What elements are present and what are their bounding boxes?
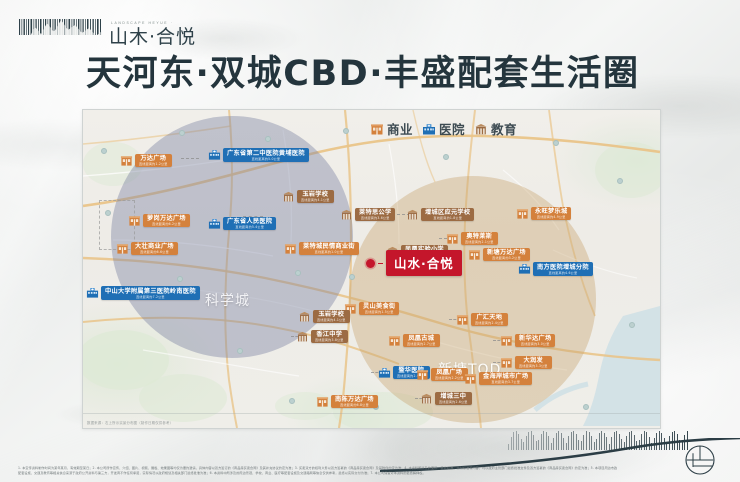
legal-disclaimer: 1. 本宣传资料制作时间为某年某月，有效期至某日；2. 本公司所作宣传、介绍、图… (18, 466, 618, 477)
poi-distance: 直线距离约2.7公里 (407, 343, 436, 346)
poi-pin-commerce[interactable] (500, 354, 513, 367)
map-place-dot (349, 274, 355, 280)
poi-label[interactable]: 南方医院增城分院直线距离约4.6公里 (533, 262, 593, 276)
poi-distance: 直线距离约2.2公里 (435, 377, 464, 380)
legend-item-education: 教育 (474, 119, 517, 138)
page-title: 天河东·双城CBD·丰盛配套生活圈 (86, 57, 640, 92)
legend-label-education: 教育 (491, 119, 517, 138)
project-marker[interactable]: 山水·合悦 (366, 250, 462, 276)
poi-distance: 直线距离约7.2公里 (105, 296, 196, 299)
poi-pin-hospital[interactable] (208, 146, 221, 159)
poi-pin-commerce[interactable] (500, 332, 513, 345)
poi-pin-commerce[interactable] (456, 311, 469, 324)
poi-distance: 直线距离约4.1公里 (317, 319, 346, 322)
poi-label[interactable]: 新华达广场直线距离约3.0公里 (515, 334, 555, 347)
poi-distance: 直线距离约1.8公里 (425, 217, 470, 220)
poi-pin-edu[interactable] (420, 390, 433, 403)
poi-pin-edu[interactable] (340, 206, 353, 219)
poi-label[interactable]: 玉岩学校直线距离约4.1公里 (313, 310, 350, 323)
map-place-dot (443, 154, 449, 160)
poi-distance: 直线距离约2.6公里 (439, 401, 468, 404)
commerce-icon (370, 122, 384, 136)
poi-pin-edu[interactable] (298, 308, 311, 321)
brand-logo: LANDSCAPE HEYUE · 山木·合悦 (18, 17, 196, 47)
poi-distance: 直线距离约2.1公里 (465, 241, 494, 244)
poi-label[interactable]: 广东省人民医院直线距离约5.4公里 (223, 217, 276, 230)
map-source-divider (83, 413, 660, 414)
barcode-mountain-logo-icon (18, 17, 102, 47)
education-icon (474, 122, 488, 136)
map-place-dot (289, 398, 295, 404)
poi-pin-commerce[interactable] (468, 246, 481, 259)
poi-distance: 直线距离约3.8公里 (315, 339, 344, 342)
poi-distance: 直线距离约4.1公里 (301, 199, 330, 202)
poi-pin-hospital[interactable] (518, 260, 531, 273)
poi-pin-commerce[interactable] (284, 240, 297, 253)
brand-english-tagline: LANDSCAPE HEYUE · (111, 22, 196, 25)
poi-label[interactable]: 莱特城民情商业街直线距离约1.0公里 (299, 242, 359, 255)
poi-label[interactable]: 奥特莱斯直线距离约2.1公里 (461, 232, 498, 245)
poi-label[interactable]: 金海岸城市广场直线距离约3.7公里 (479, 372, 532, 385)
map-place-dot (177, 276, 183, 282)
project-marker-connector (378, 263, 383, 264)
map-place-dot (583, 404, 589, 410)
poi-distance: 直线距离约4.6公里 (537, 272, 589, 275)
legend-label-hospital: 医院 (439, 119, 465, 138)
brand-name: 山木·合悦 (109, 28, 196, 47)
project-marker-dot (366, 259, 375, 268)
poi-pin-hospital[interactable] (378, 364, 391, 377)
map-place-dot (237, 348, 243, 354)
zone-label-keyuecheng: 科学城 (205, 290, 250, 310)
map-place-dot (101, 148, 107, 154)
poi-label[interactable]: 大润发直线距离约3.3公里 (515, 356, 552, 369)
poi-distance: 直线距离约4.9公里 (535, 216, 567, 219)
legend-item-commerce: 商业 (370, 119, 413, 138)
legend-label-commerce: 商业 (387, 119, 413, 138)
map-place-dot (629, 322, 635, 328)
poi-pin-edu[interactable] (296, 328, 309, 341)
poi-distance: 直线距离约2.4公里 (475, 322, 504, 325)
poi-pin-commerce[interactable] (120, 152, 133, 165)
poi-distance: 直线距离约6.8公里 (335, 404, 374, 407)
map-place-dot (553, 140, 559, 146)
map-place-dot (343, 128, 349, 134)
poi-pin-commerce[interactable] (316, 393, 329, 406)
poi-label[interactable]: 增城三中直线距离约2.6公里 (435, 392, 472, 405)
poi-label[interactable]: 凤凰广场直线距离约2.2公里 (431, 368, 468, 381)
poi-distance: 直线距离约1.2公里 (139, 163, 168, 166)
poi-pin-hospital[interactable] (86, 284, 99, 297)
poi-label[interactable]: 广东省第二中医院黄埔医院直线距离约5.0公里 (223, 148, 309, 162)
map-legend: 商业 医院 (370, 119, 517, 138)
poi-pin-edu[interactable] (406, 206, 419, 219)
poi-label[interactable]: 灵山美食街直线距离约1.5公里 (359, 302, 399, 315)
poi-distance: 直线距离约3.3公里 (519, 365, 548, 368)
poi-distance: 直线距离约6.2公里 (147, 223, 186, 226)
poi-distance: 直线距离约1.5公里 (363, 311, 395, 314)
poi-distance: 直线距离约3.0公里 (519, 343, 551, 346)
poi-label[interactable]: 永旺梦乐城直线距离约4.9公里 (531, 207, 571, 220)
poi-distance: 直线距离约1.0公里 (303, 251, 355, 254)
poi-distance: 直线距离约5.0公里 (227, 158, 305, 161)
poi-pin-commerce[interactable] (516, 205, 529, 218)
map-place-dot (617, 178, 623, 184)
map-canvas: 科学城 新塘TOD (83, 110, 660, 428)
map-connector (181, 158, 199, 159)
poi-distance: 直线距离约3.7公里 (483, 381, 528, 384)
poi-pin-hospital[interactable] (208, 215, 221, 228)
poi-pin-commerce[interactable] (116, 240, 129, 253)
poi-pin-commerce[interactable] (128, 212, 141, 225)
poi-label[interactable]: 广汇天地直线距离约2.4公里 (471, 313, 508, 326)
poi-label[interactable]: 中山大学附属第三医院岭南医院直线距离约7.2公里 (101, 286, 200, 300)
poi-label[interactable]: 香江中学直线距离约3.8公里 (311, 330, 348, 343)
poi-pin-commerce[interactable] (416, 366, 429, 379)
poi-label[interactable]: 萝岗万达广场直线距离约6.2公里 (143, 214, 190, 227)
poi-label[interactable]: 玉岩学校直线距离约4.1公里 (297, 190, 334, 203)
map-place-dot (179, 130, 185, 136)
hospital-icon (422, 122, 436, 136)
poi-pin-commerce[interactable] (446, 230, 459, 243)
poi-pin-edu[interactable] (282, 188, 295, 201)
poi-pin-commerce[interactable] (464, 370, 477, 383)
poi-label[interactable]: 万达广场直线距离约1.2公里 (135, 154, 172, 167)
poi-label[interactable]: 南陈万达广场直线距离约6.8公里 (331, 395, 378, 408)
location-map[interactable]: 科学城 新塘TOD (82, 109, 661, 429)
roof-circle-emblem-icon (682, 442, 718, 478)
poi-distance: 直线距离约3.6公里 (359, 217, 391, 220)
project-marker-label: 山水·合悦 (386, 250, 462, 276)
legend-item-hospital: 医院 (422, 119, 465, 138)
map-place-dot (265, 136, 271, 142)
poi-label[interactable]: 增城区应元学校直线距离约1.8公里 (421, 208, 474, 221)
poi-label[interactable]: 莱特思公学直线距离约3.6公里 (355, 208, 395, 221)
poi-pin-commerce[interactable] (388, 332, 401, 345)
poi-label[interactable]: 凤凰古城直线距离约2.7公里 (403, 334, 440, 347)
poi-distance: 直线距离约5.4公里 (227, 226, 272, 229)
poster-page: LANDSCAPE HEYUE · 山木·合悦 天河东·双城CBD·丰盛配套生活… (0, 0, 740, 482)
map-place-dot (295, 270, 301, 276)
comb-pattern (508, 430, 688, 450)
poi-label[interactable]: 大壮商业广场直线距离约6.6公里 (131, 242, 178, 255)
poi-distance: 直线距离约6.6公里 (135, 251, 174, 254)
